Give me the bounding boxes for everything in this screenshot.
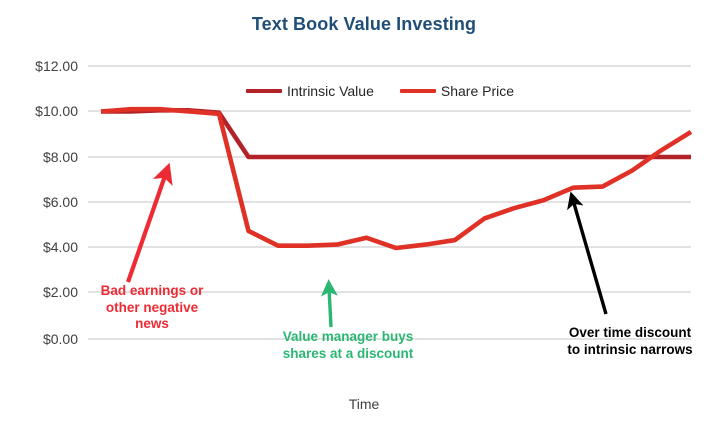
annotation-text-bad-news: Bad earnings or other negative news — [72, 283, 232, 333]
annotation-text-value-manager: Value manager buys shares at a discount — [248, 329, 448, 362]
legend-swatch-intrinsic-value — [246, 89, 282, 93]
chart-container: Text Book Value Investing $12.00 $10.00 … — [0, 0, 728, 446]
annotation-arrow-value-manager — [329, 288, 331, 327]
legend-label-intrinsic-value: Intrinsic Value — [287, 83, 374, 99]
series-line-share-price — [101, 109, 691, 248]
x-axis-label: Time — [0, 396, 728, 412]
plot-area — [0, 0, 728, 446]
chart-legend: Intrinsic Value Share Price — [200, 80, 560, 102]
legend-label-share-price: Share Price — [441, 83, 514, 99]
annotation-arrow-bad-news — [128, 173, 166, 282]
annotation-arrow-discount-narrows — [573, 200, 606, 314]
legend-item-share-price[interactable]: Share Price — [400, 83, 514, 99]
annotation-text-discount-narrows: Over time discount to intrinsic narrows — [540, 325, 720, 358]
legend-item-intrinsic-value[interactable]: Intrinsic Value — [246, 83, 374, 99]
series-line-intrinsic-value — [101, 110, 691, 157]
legend-swatch-share-price — [400, 89, 436, 93]
